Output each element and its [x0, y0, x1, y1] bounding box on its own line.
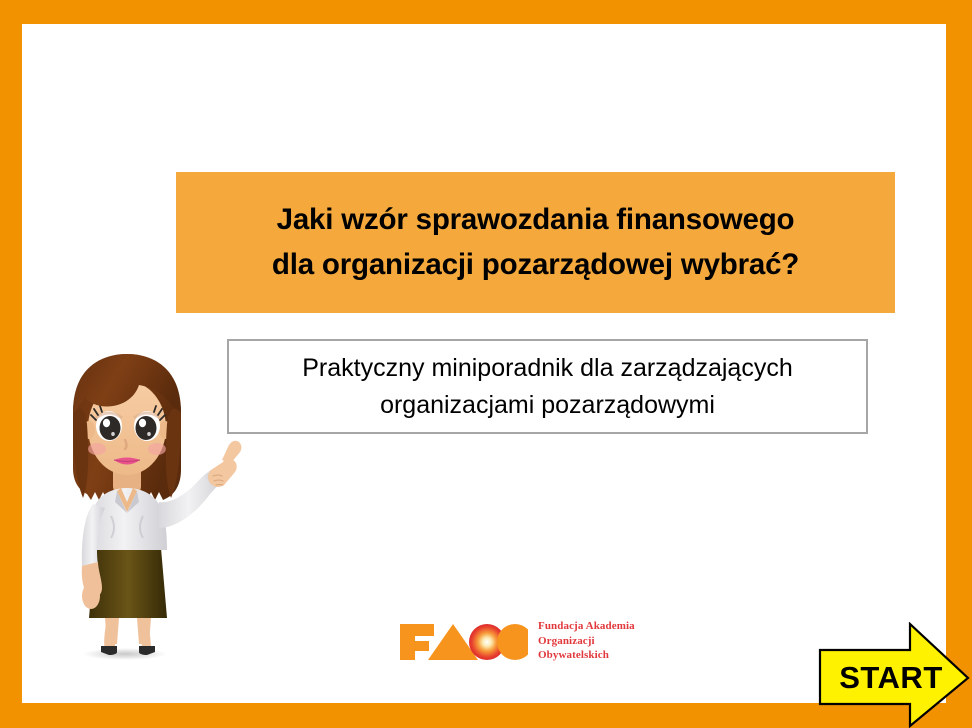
title-banner: Jaki wzór sprawozdania finansowego dla o… — [176, 172, 895, 313]
faoo-logo-mark-icon — [398, 620, 528, 662]
slide-root: Jaki wzór sprawozdania finansowego dla o… — [0, 0, 972, 728]
start-arrow-icon[interactable] — [818, 622, 972, 728]
start-button[interactable]: START — [818, 622, 972, 728]
logo-wordmark: Fundacja Akademia Organizacji Obywatelsk… — [538, 619, 635, 663]
businesswoman-pointing-icon — [55, 352, 245, 664]
faoo-logo: Fundacja Akademia Organizacji Obywatelsk… — [398, 616, 648, 666]
character-illustration — [55, 352, 245, 664]
subtitle-text: Praktyczny miniporadnik dla zarządzający… — [292, 350, 803, 424]
page-title: Jaki wzór sprawozdania finansowego dla o… — [260, 198, 811, 288]
subtitle-box: Praktyczny miniporadnik dla zarządzający… — [227, 339, 868, 434]
